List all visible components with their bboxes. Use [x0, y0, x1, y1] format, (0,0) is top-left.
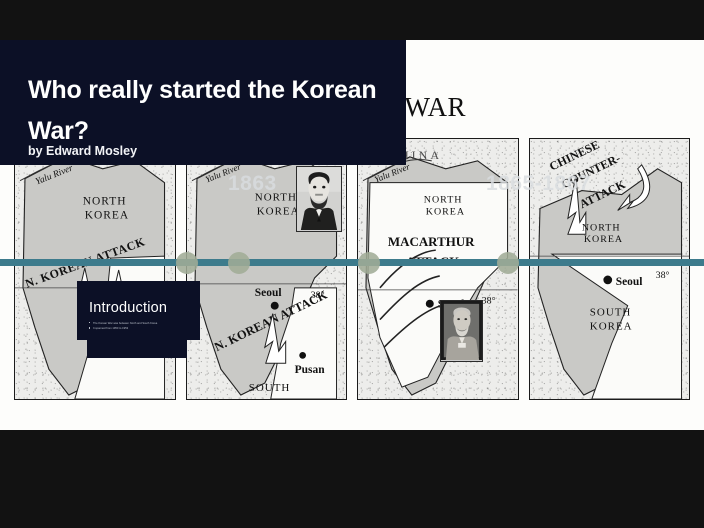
timeline-dot-2[interactable] [228, 252, 250, 274]
portrait-photo-icon [297, 167, 341, 230]
page-title: Who really started the Korean War? [28, 70, 388, 151]
timeline-dot-4[interactable] [497, 252, 519, 274]
page-title-line2: War? [28, 117, 89, 145]
intro-card[interactable]: Introduction The Korean War was between … [77, 281, 200, 340]
intro-card-bullets: The Korean War was between North and Sou… [89, 321, 193, 331]
letterbox-top [0, 0, 704, 40]
author-byline: by Edward Mosley [28, 144, 137, 158]
title-overlay-card[interactable]: Who really started the Korean War? by Ed… [0, 40, 406, 165]
timeline-dot-1[interactable] [176, 252, 198, 274]
intro-bullet-2: It spanned from 1950 to 1953 [89, 326, 193, 331]
portrait-photo-icon [441, 301, 482, 360]
intro-card-heading: Introduction [89, 300, 167, 316]
portrait-lincoln[interactable] [296, 166, 342, 232]
timeline-year-2: 1865-1867 [486, 172, 591, 196]
letterbox-bottom [0, 430, 704, 528]
timeline-dot-3[interactable] [358, 252, 380, 274]
page-title-line1: Who really started the Korean [28, 76, 376, 104]
timeline-year-1: 1863 [228, 172, 277, 196]
slide-canvas: HE KOREAN WAR Yalu River NORTH KOREA N. … [0, 0, 704, 528]
timeline-track[interactable] [0, 259, 704, 266]
portrait-general[interactable] [440, 300, 483, 362]
